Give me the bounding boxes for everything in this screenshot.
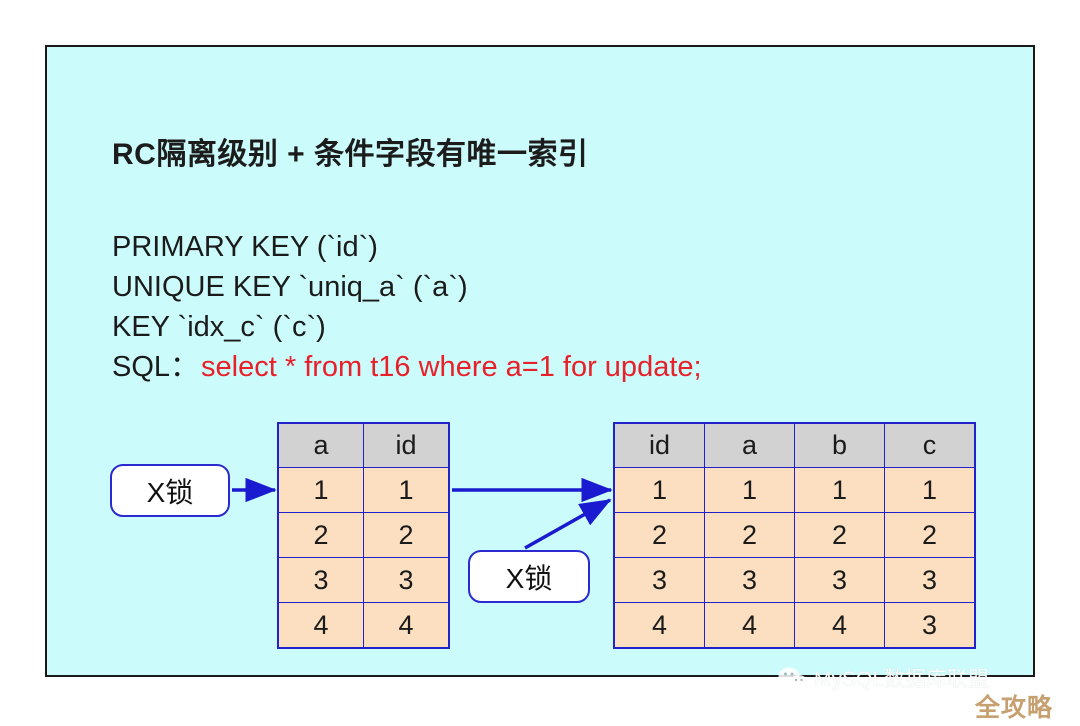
column-header-a: a bbox=[278, 423, 364, 468]
cell-c: 3 bbox=[885, 603, 976, 649]
ddl-line-unique-key: UNIQUE KEY `uniq_a` (`a`) bbox=[112, 267, 468, 307]
cell-id: 3 bbox=[364, 558, 450, 603]
wechat-icon bbox=[778, 666, 808, 691]
cell-id: 2 bbox=[364, 513, 450, 558]
table-row: 4 4 4 3 bbox=[614, 603, 975, 649]
cell-id: 4 bbox=[614, 603, 705, 649]
cell-a: 2 bbox=[278, 513, 364, 558]
cell-id: 3 bbox=[614, 558, 705, 603]
cell-a: 4 bbox=[705, 603, 795, 649]
cell-id: 1 bbox=[614, 468, 705, 513]
sql-label: SQL： bbox=[112, 351, 199, 383]
cell-a: 3 bbox=[705, 558, 795, 603]
column-header-id: id bbox=[364, 423, 450, 468]
cell-a: 4 bbox=[278, 603, 364, 649]
cell-b: 2 bbox=[795, 513, 885, 558]
ddl-line-index-key: KEY `idx_c` (`c`) bbox=[112, 307, 468, 347]
lock-badge-clustered[interactable]: X锁 bbox=[468, 550, 590, 603]
table-row: 1 1 1 1 bbox=[614, 468, 975, 513]
cell-b: 4 bbox=[795, 603, 885, 649]
watermark-brand: 全攻略 bbox=[975, 688, 1053, 724]
column-header-a: a bbox=[705, 423, 795, 468]
lock-badge-index[interactable]: X锁 bbox=[110, 464, 230, 517]
table-row: 2 2 2 2 bbox=[614, 513, 975, 558]
table-row: 2 2 bbox=[278, 513, 449, 558]
column-header-c: c bbox=[885, 423, 976, 468]
column-header-id: id bbox=[614, 423, 705, 468]
clustered-index-table: id a b c 1 1 1 1 2 2 2 2 3 3 3 3 4 4 4 3 bbox=[613, 422, 976, 649]
watermark-account-name: MySQL数据库联盟 bbox=[814, 663, 989, 693]
cell-c: 3 bbox=[885, 558, 976, 603]
cell-id: 4 bbox=[364, 603, 450, 649]
cell-a: 2 bbox=[705, 513, 795, 558]
table-row: 3 3 3 3 bbox=[614, 558, 975, 603]
cell-c: 1 bbox=[885, 468, 976, 513]
secondary-index-table: a id 1 1 2 2 3 3 4 4 bbox=[277, 422, 450, 649]
lock-badge-clustered-label: X锁 bbox=[506, 557, 553, 597]
cell-id: 2 bbox=[614, 513, 705, 558]
column-header-b: b bbox=[795, 423, 885, 468]
ddl-line-primary-key: PRIMARY KEY (`id`) bbox=[112, 227, 468, 267]
sql-statement-line: SQL：select * from t16 where a=1 for upda… bbox=[112, 347, 702, 387]
watermark-account: MySQL数据库联盟 bbox=[778, 663, 989, 693]
page-title: RC隔离级别 + 条件字段有唯一索引 bbox=[112, 129, 589, 173]
cell-c: 2 bbox=[885, 513, 976, 558]
table-row: 4 4 bbox=[278, 603, 449, 649]
cell-a: 3 bbox=[278, 558, 364, 603]
table-header-row: id a b c bbox=[614, 423, 975, 468]
cell-id: 1 bbox=[364, 468, 450, 513]
ddl-definition-block: PRIMARY KEY (`id`) UNIQUE KEY `uniq_a` (… bbox=[112, 227, 468, 347]
table-row: 1 1 bbox=[278, 468, 449, 513]
cell-b: 1 bbox=[795, 468, 885, 513]
table-header-row: a id bbox=[278, 423, 449, 468]
lock-badge-index-label: X锁 bbox=[147, 471, 194, 511]
cell-a: 1 bbox=[278, 468, 364, 513]
cell-b: 3 bbox=[795, 558, 885, 603]
table-row: 3 3 bbox=[278, 558, 449, 603]
cell-a: 1 bbox=[705, 468, 795, 513]
sql-statement-text: select * from t16 where a=1 for update; bbox=[201, 351, 702, 383]
